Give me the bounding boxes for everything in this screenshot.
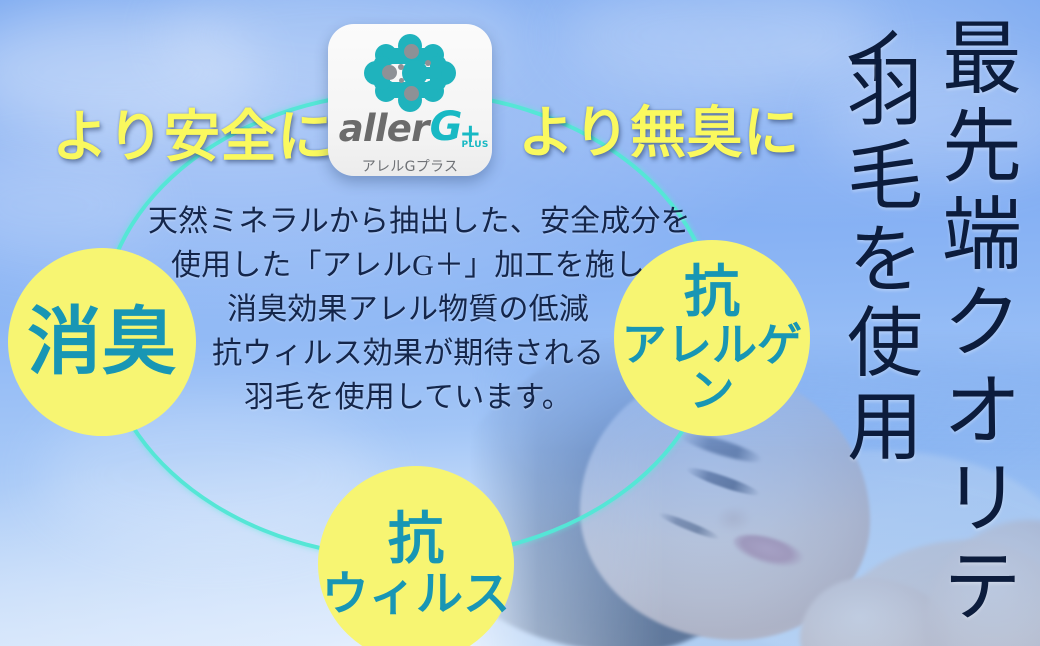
badge-anti-virus-label-2: ウィルス bbox=[322, 570, 511, 618]
headline-safer: より安全に bbox=[52, 92, 334, 173]
banner-root: 天然ミネラルから抽出した、安全成分を 使用した「アレルG＋」加工を施し 消臭効果… bbox=[0, 0, 1040, 646]
body-paragraph: 天然ミネラルから抽出した、安全成分を 使用した「アレルG＋」加工を施し 消臭効果… bbox=[148, 200, 668, 420]
headline-odorless: より無臭に bbox=[518, 88, 800, 169]
badge-deodorant-label: 消臭 bbox=[27, 304, 176, 379]
logo-plus-group: + PLUS bbox=[460, 121, 482, 147]
body-line-5: 羽毛を使用しています。 bbox=[148, 376, 668, 420]
badge-anti-allergen-label-1: 抗 bbox=[684, 263, 740, 320]
badge-deodorant: 消臭 bbox=[8, 248, 196, 436]
logo-brand-g: G bbox=[430, 107, 463, 147]
logo-brand-plus-small: PLUS bbox=[462, 140, 489, 150]
molecule-gear-icon bbox=[362, 34, 458, 109]
logo-brand-aller: aller bbox=[339, 110, 429, 147]
badge-anti-allergen: 抗 アレルゲン bbox=[614, 240, 810, 436]
badge-anti-allergen-label-2: アレルゲン bbox=[614, 322, 810, 414]
body-line-1: 天然ミネラルから抽出した、安全成分を bbox=[148, 200, 668, 244]
body-line-3: 消臭効果アレル物質の低減 bbox=[148, 288, 668, 332]
allerg-plus-logo-card: aller G + PLUS アレルGプラス bbox=[328, 24, 492, 176]
body-line-4: 抗ウィルス効果が期待される bbox=[148, 332, 668, 376]
vertical-heading-down: 羽毛を使用 bbox=[822, 52, 932, 470]
logo-japanese-reading: アレルGプラス bbox=[362, 156, 459, 176]
badge-anti-virus-label-1: 抗 bbox=[388, 510, 444, 567]
body-line-2: 使用した「アレルG＋」加工を施し bbox=[148, 244, 668, 288]
logo-wordmark: aller G + PLUS bbox=[339, 107, 482, 147]
